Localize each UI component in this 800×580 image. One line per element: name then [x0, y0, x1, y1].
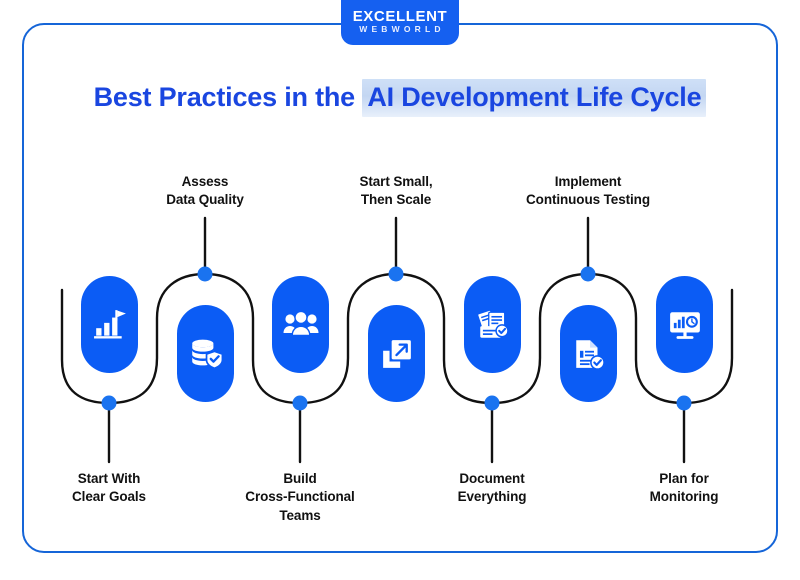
- step-pill-4[interactable]: [368, 305, 425, 402]
- node-dot-step-6: [581, 267, 596, 282]
- step-pill-3[interactable]: [272, 276, 329, 373]
- node-dot-step-1: [102, 396, 117, 411]
- page-title: Best Practices in the AI Development Lif…: [0, 82, 800, 113]
- node-dot-step-5: [485, 396, 500, 411]
- title-plain-text: Best Practices in the: [94, 82, 355, 112]
- step-pill-2[interactable]: [177, 305, 234, 402]
- step-label-1: Start With Clear Goals: [9, 470, 209, 507]
- document-check-badge-icon: [572, 337, 606, 371]
- step-label-3: Build Cross-Functional Teams: [200, 470, 400, 525]
- database-shield-check-icon: [188, 336, 224, 372]
- step-pill-5[interactable]: [464, 276, 521, 373]
- infographic-canvas: EXCELLENT WEBWORLD Best Practices in the…: [0, 0, 800, 580]
- node-dot-step-4: [389, 267, 404, 282]
- step-label-5: Document Everything: [392, 470, 592, 507]
- monitor-dashboard-icon: [668, 309, 702, 341]
- logo-primary-text: EXCELLENT: [353, 9, 448, 24]
- logo-badge: EXCELLENT WEBWORLD: [341, 0, 459, 45]
- logo-secondary-text: WEBWORLD: [355, 25, 445, 34]
- step-label-6: Implement Continuous Testing: [488, 173, 688, 210]
- step-pill-6[interactable]: [560, 305, 617, 402]
- bar-chart-flag-icon: [93, 308, 127, 342]
- step-label-4: Start Small, Then Scale: [296, 173, 496, 210]
- step-pill-7[interactable]: [656, 276, 713, 373]
- node-dot-step-3: [293, 396, 308, 411]
- node-dot-step-2: [198, 267, 213, 282]
- people-group-icon: [283, 309, 319, 341]
- step-label-2: Assess Data Quality: [105, 173, 305, 210]
- scale-expand-arrow-icon: [381, 338, 413, 370]
- documents-check-icon: [476, 308, 510, 342]
- title-highlighted-text: AI Development Life Cycle: [362, 79, 706, 117]
- node-dot-step-7: [677, 396, 692, 411]
- step-pill-1[interactable]: [81, 276, 138, 373]
- step-label-7: Plan for Monitoring: [584, 470, 784, 507]
